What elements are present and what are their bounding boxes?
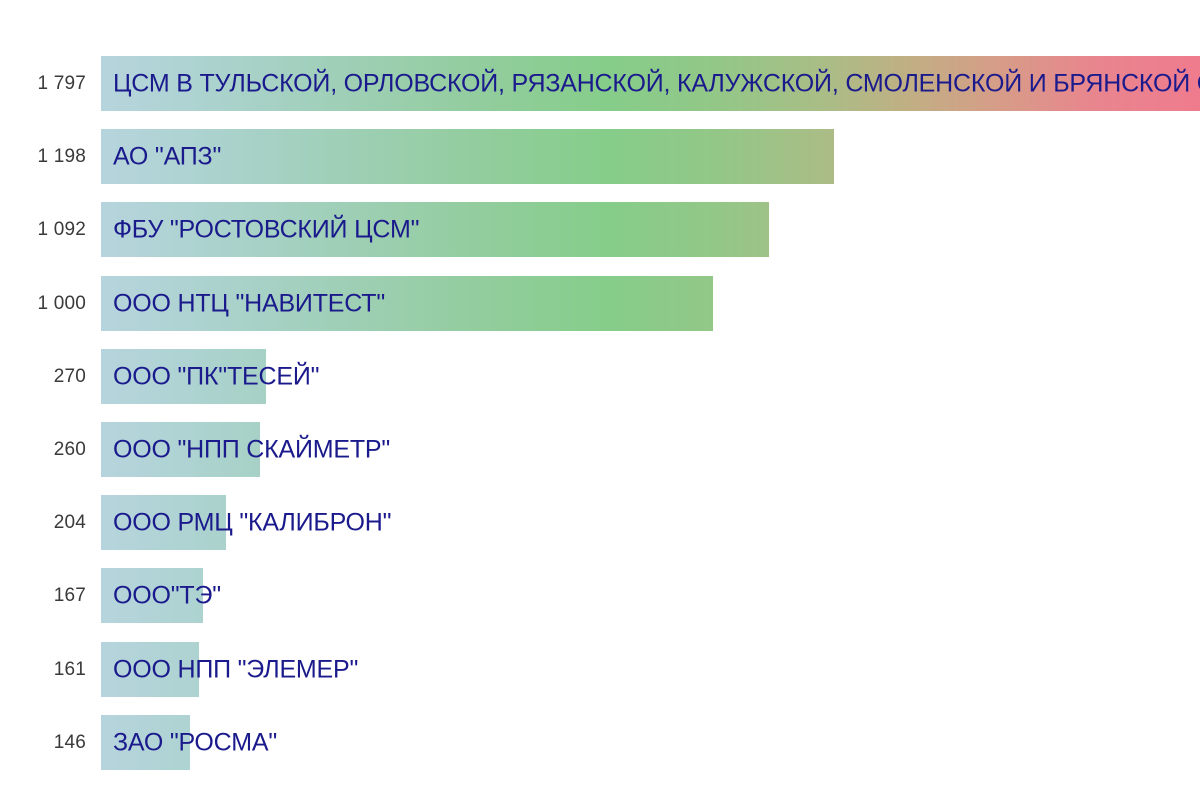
- bar-gradient: [101, 56, 1200, 111]
- bar-gradient: [101, 715, 190, 770]
- bar-value-label: 1 797: [0, 73, 86, 95]
- bar-fill: [101, 422, 260, 477]
- bar-track: ЗАО "РОСМА": [101, 715, 1200, 770]
- bar-fill: [101, 715, 190, 770]
- bar-gradient: [101, 568, 203, 623]
- bar-value-label: 1 092: [0, 219, 86, 241]
- bar-value-label: 146: [0, 732, 86, 754]
- bar-row: 161ООО НПП "ЭЛЕМЕР": [0, 642, 1200, 697]
- bar-track: ЦСМ В ТУЛЬСКОЙ, ОРЛОВСКОЙ, РЯЗАНСКОЙ, КА…: [101, 56, 1200, 111]
- bar-track: ООО"ТЭ": [101, 568, 1200, 623]
- bar-gradient: [101, 642, 199, 697]
- bar-fill: [101, 56, 1200, 111]
- bar-track: ООО "НПП СКАЙМЕТР": [101, 422, 1200, 477]
- bar-value-label: 161: [0, 659, 86, 681]
- bar-fill: [101, 568, 203, 623]
- bar-track: ФБУ "РОСТОВСКИЙ ЦСМ": [101, 202, 1200, 257]
- bar-value-label: 270: [0, 366, 86, 388]
- bar-track: ООО "ПК"ТЕСЕЙ": [101, 349, 1200, 404]
- bar-row: 270ООО "ПК"ТЕСЕЙ": [0, 349, 1200, 404]
- bar-track: ООО НТЦ "НАВИТЕСТ": [101, 276, 1200, 331]
- bar-row: 167ООО"ТЭ": [0, 568, 1200, 623]
- bar-row: 1 092ФБУ "РОСТОВСКИЙ ЦСМ": [0, 202, 1200, 257]
- bar-fill: [101, 642, 199, 697]
- bar-track: ООО НПП "ЭЛЕМЕР": [101, 642, 1200, 697]
- bar-value-label: 167: [0, 585, 86, 607]
- bar-fill: [101, 202, 769, 257]
- bar-track: ООО РМЦ "КАЛИБРОН": [101, 495, 1200, 550]
- bar-gradient: [101, 276, 713, 331]
- bar-value-label: 260: [0, 439, 86, 461]
- bar-value-label: 204: [0, 512, 86, 534]
- bar-gradient: [101, 129, 834, 184]
- bar-row: 1 198АО "АПЗ": [0, 129, 1200, 184]
- bar-row: 204ООО РМЦ "КАЛИБРОН": [0, 495, 1200, 550]
- bar-gradient: [101, 422, 260, 477]
- bar-fill: [101, 349, 266, 404]
- bar-fill: [101, 495, 226, 550]
- bar-row: 260ООО "НПП СКАЙМЕТР": [0, 422, 1200, 477]
- bar-track: АО "АПЗ": [101, 129, 1200, 184]
- bar-fill: [101, 129, 834, 184]
- bar-row: 146ЗАО "РОСМА": [0, 715, 1200, 770]
- bar-row: 1 797ЦСМ В ТУЛЬСКОЙ, ОРЛОВСКОЙ, РЯЗАНСКО…: [0, 56, 1200, 111]
- horizontal-bar-chart: 1 797ЦСМ В ТУЛЬСКОЙ, ОРЛОВСКОЙ, РЯЗАНСКО…: [0, 0, 1200, 800]
- bar-row: 1 000ООО НТЦ "НАВИТЕСТ": [0, 276, 1200, 331]
- bar-value-label: 1 000: [0, 293, 86, 315]
- bar-fill: [101, 276, 713, 331]
- bar-value-label: 1 198: [0, 146, 86, 168]
- bar-gradient: [101, 349, 266, 404]
- bar-gradient: [101, 202, 769, 257]
- bar-gradient: [101, 495, 226, 550]
